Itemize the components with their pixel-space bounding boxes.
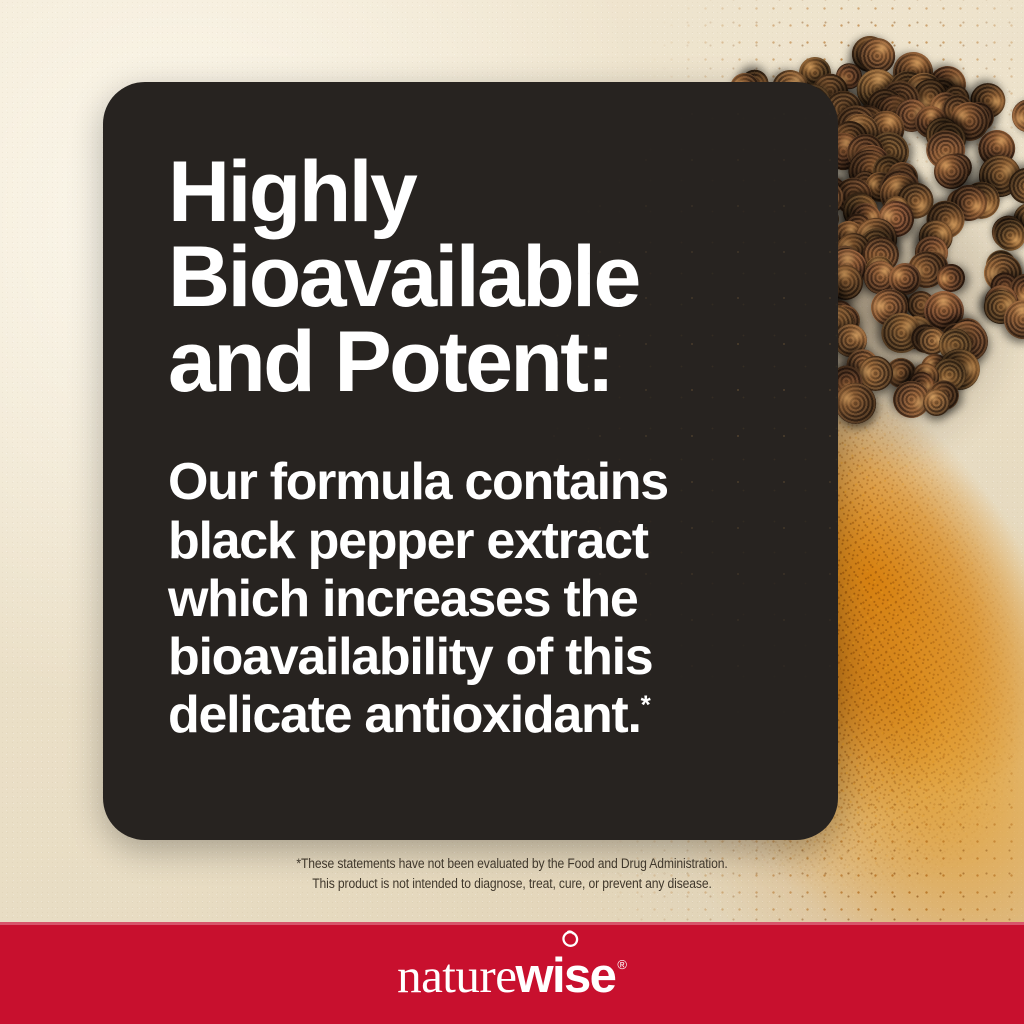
content-card: Highly Bioavailable and Potent: Our form… [103, 82, 838, 840]
fda-disclaimer-line-1: *These statements have not been evaluate… [51, 854, 973, 874]
peppercorn [1008, 95, 1024, 136]
registered-trademark-mark: ® [617, 957, 627, 972]
content-card-inner: Highly Bioavailable and Potent: Our form… [168, 150, 778, 745]
leaf-icon [557, 930, 583, 956]
body-copy-text: Our formula contains black pepper extrac… [168, 453, 668, 744]
body-copy: Our formula contains black pepper extrac… [168, 453, 724, 744]
fda-disclaimer: *These statements have not been evaluate… [51, 854, 973, 893]
page-title: Highly Bioavailable and Potent: [168, 150, 728, 405]
brand-logo-wise: wise [516, 948, 616, 1004]
peppercorn-texture [922, 389, 950, 417]
footnote-marker: * [641, 690, 650, 720]
brand-footer-band: naturewise® [0, 922, 1024, 1024]
brand-logo-nature: nature [397, 947, 516, 1004]
fda-disclaimer-line-2: This product is not intended to diagnose… [51, 874, 973, 894]
peppercorn [922, 389, 950, 417]
brand-logo: naturewise® [397, 947, 627, 1004]
product-marketing-poster: Highly Bioavailable and Potent: Our form… [0, 0, 1024, 1024]
peppercorn-texture [1008, 95, 1024, 136]
